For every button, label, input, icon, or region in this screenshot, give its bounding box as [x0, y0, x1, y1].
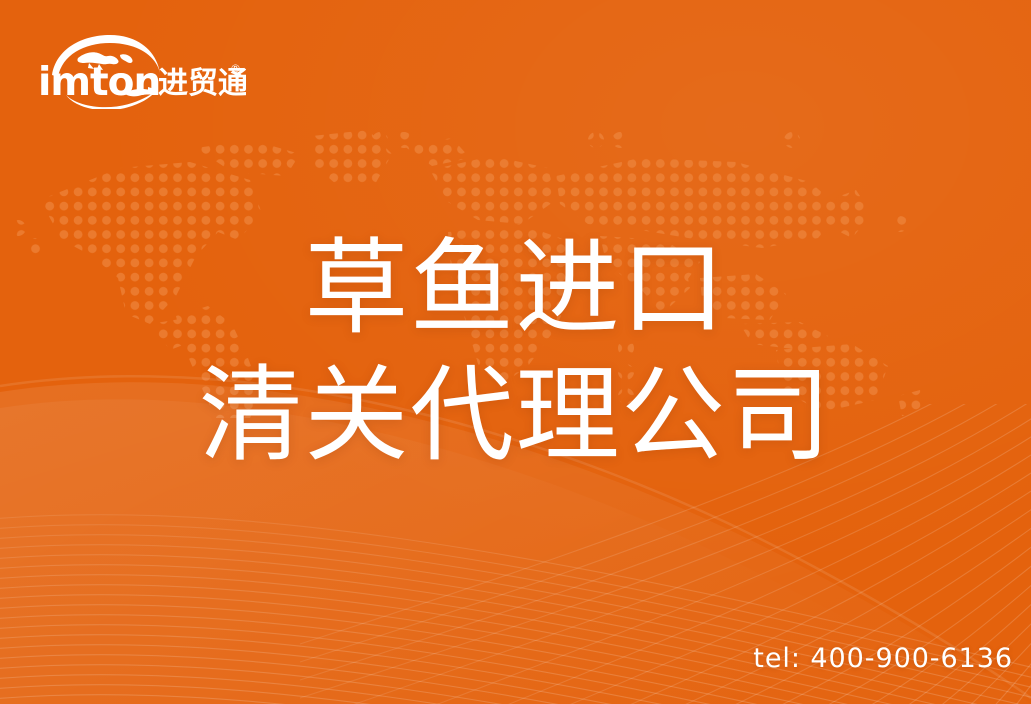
- registered-trademark-icon: ®: [230, 62, 241, 75]
- poster-canvas: imton 进贸通 ® imton 进贸通 ® 草鱼进口 清关代理公司 tel:…: [0, 0, 1031, 704]
- headline-line-2: 清关代理公司: [0, 355, 1031, 476]
- headline: 草鱼进口 清关代理公司: [0, 228, 1031, 475]
- headline-line-1: 草鱼进口: [0, 228, 1031, 349]
- brand-logo[interactable]: imton 进贸通 ®: [36, 31, 246, 109]
- logo-wordmark: imton: [38, 60, 160, 105]
- phone-number[interactable]: tel: 400-900-6136: [753, 643, 1013, 674]
